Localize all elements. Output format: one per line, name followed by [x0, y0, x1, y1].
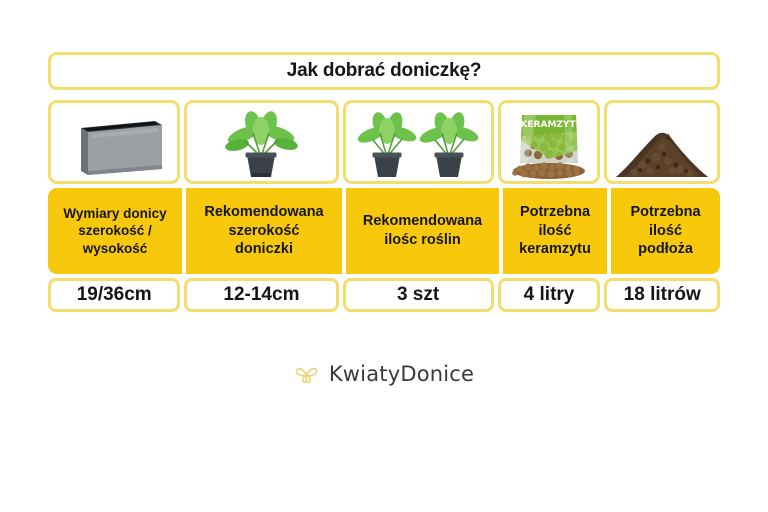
pot-selection-table: KERAMZYT: [48, 100, 720, 312]
single-potted-plant-image: [207, 107, 315, 181]
image-cell-keramzyt: KERAMZYT: [498, 100, 601, 184]
infographic-page: Jak dobrać doniczkę?: [0, 0, 768, 512]
table-header-cell-plant-count: Rekomendowana ilośc roślin: [346, 188, 503, 274]
two-potted-plants-image: [355, 107, 481, 181]
header-line: szerokość /: [63, 222, 166, 239]
header-line: wysokość: [63, 240, 166, 257]
header-line: ilość: [630, 222, 700, 241]
header-line: Rekomendowana: [204, 203, 323, 222]
table-value-row: 19/36cm 12-14cm 3 szt 4 litry 18 litrów: [48, 278, 720, 312]
value-cell-planter-dimensions: 19/36cm: [48, 278, 180, 312]
image-cell-planter: [48, 100, 180, 184]
header-line: ilośc roślin: [363, 231, 482, 250]
butterfly-icon: [294, 363, 320, 385]
title-banner: Jak dobrać doniczkę?: [48, 52, 720, 90]
table-image-row: KERAMZYT: [48, 100, 720, 184]
table-header-cell-planter-dimensions: Wymiary donicy szerokość / wysokość: [48, 188, 186, 274]
grey-planter-box-image: [59, 111, 169, 181]
image-cell-two-plants: [343, 100, 494, 184]
header-line: ilość: [519, 222, 591, 241]
table-header-cell-soil-amount: Potrzebna ilość podłoża: [611, 188, 720, 274]
header-line: Potrzebna: [630, 203, 700, 222]
value-cell-soil-amount: 18 litrów: [604, 278, 720, 312]
header-line: szerokość: [204, 222, 323, 241]
header-line: doniczki: [204, 240, 323, 259]
header-line: keramzytu: [519, 240, 591, 259]
value-cell-keramzyt-amount: 4 litry: [498, 278, 601, 312]
header-line: podłoża: [630, 240, 700, 259]
image-cell-soil: [604, 100, 720, 184]
image-cell-single-plant: [184, 100, 338, 184]
table-header-cell-pot-width: Rekomendowana szerokość doniczki: [186, 188, 346, 274]
header-line: Rekomendowana: [363, 212, 482, 231]
value-cell-pot-width: 12-14cm: [184, 278, 338, 312]
soil-pile-image: [612, 119, 712, 181]
page-title: Jak dobrać doniczkę?: [287, 60, 482, 82]
table-header-cell-keramzyt-amount: Potrzebna ilość keramzytu: [503, 188, 611, 274]
keramzyt-bag-image: KERAMZYT: [506, 107, 592, 181]
table-header-row: Wymiary donicy szerokość / wysokość Reko…: [48, 188, 720, 274]
value-cell-plant-count: 3 szt: [343, 278, 494, 312]
brand-logo: KwiatyDonice: [0, 362, 768, 386]
header-line: Potrzebna: [519, 203, 591, 222]
header-line: Wymiary donicy: [63, 205, 166, 222]
brand-name: KwiatyDonice: [329, 362, 474, 386]
